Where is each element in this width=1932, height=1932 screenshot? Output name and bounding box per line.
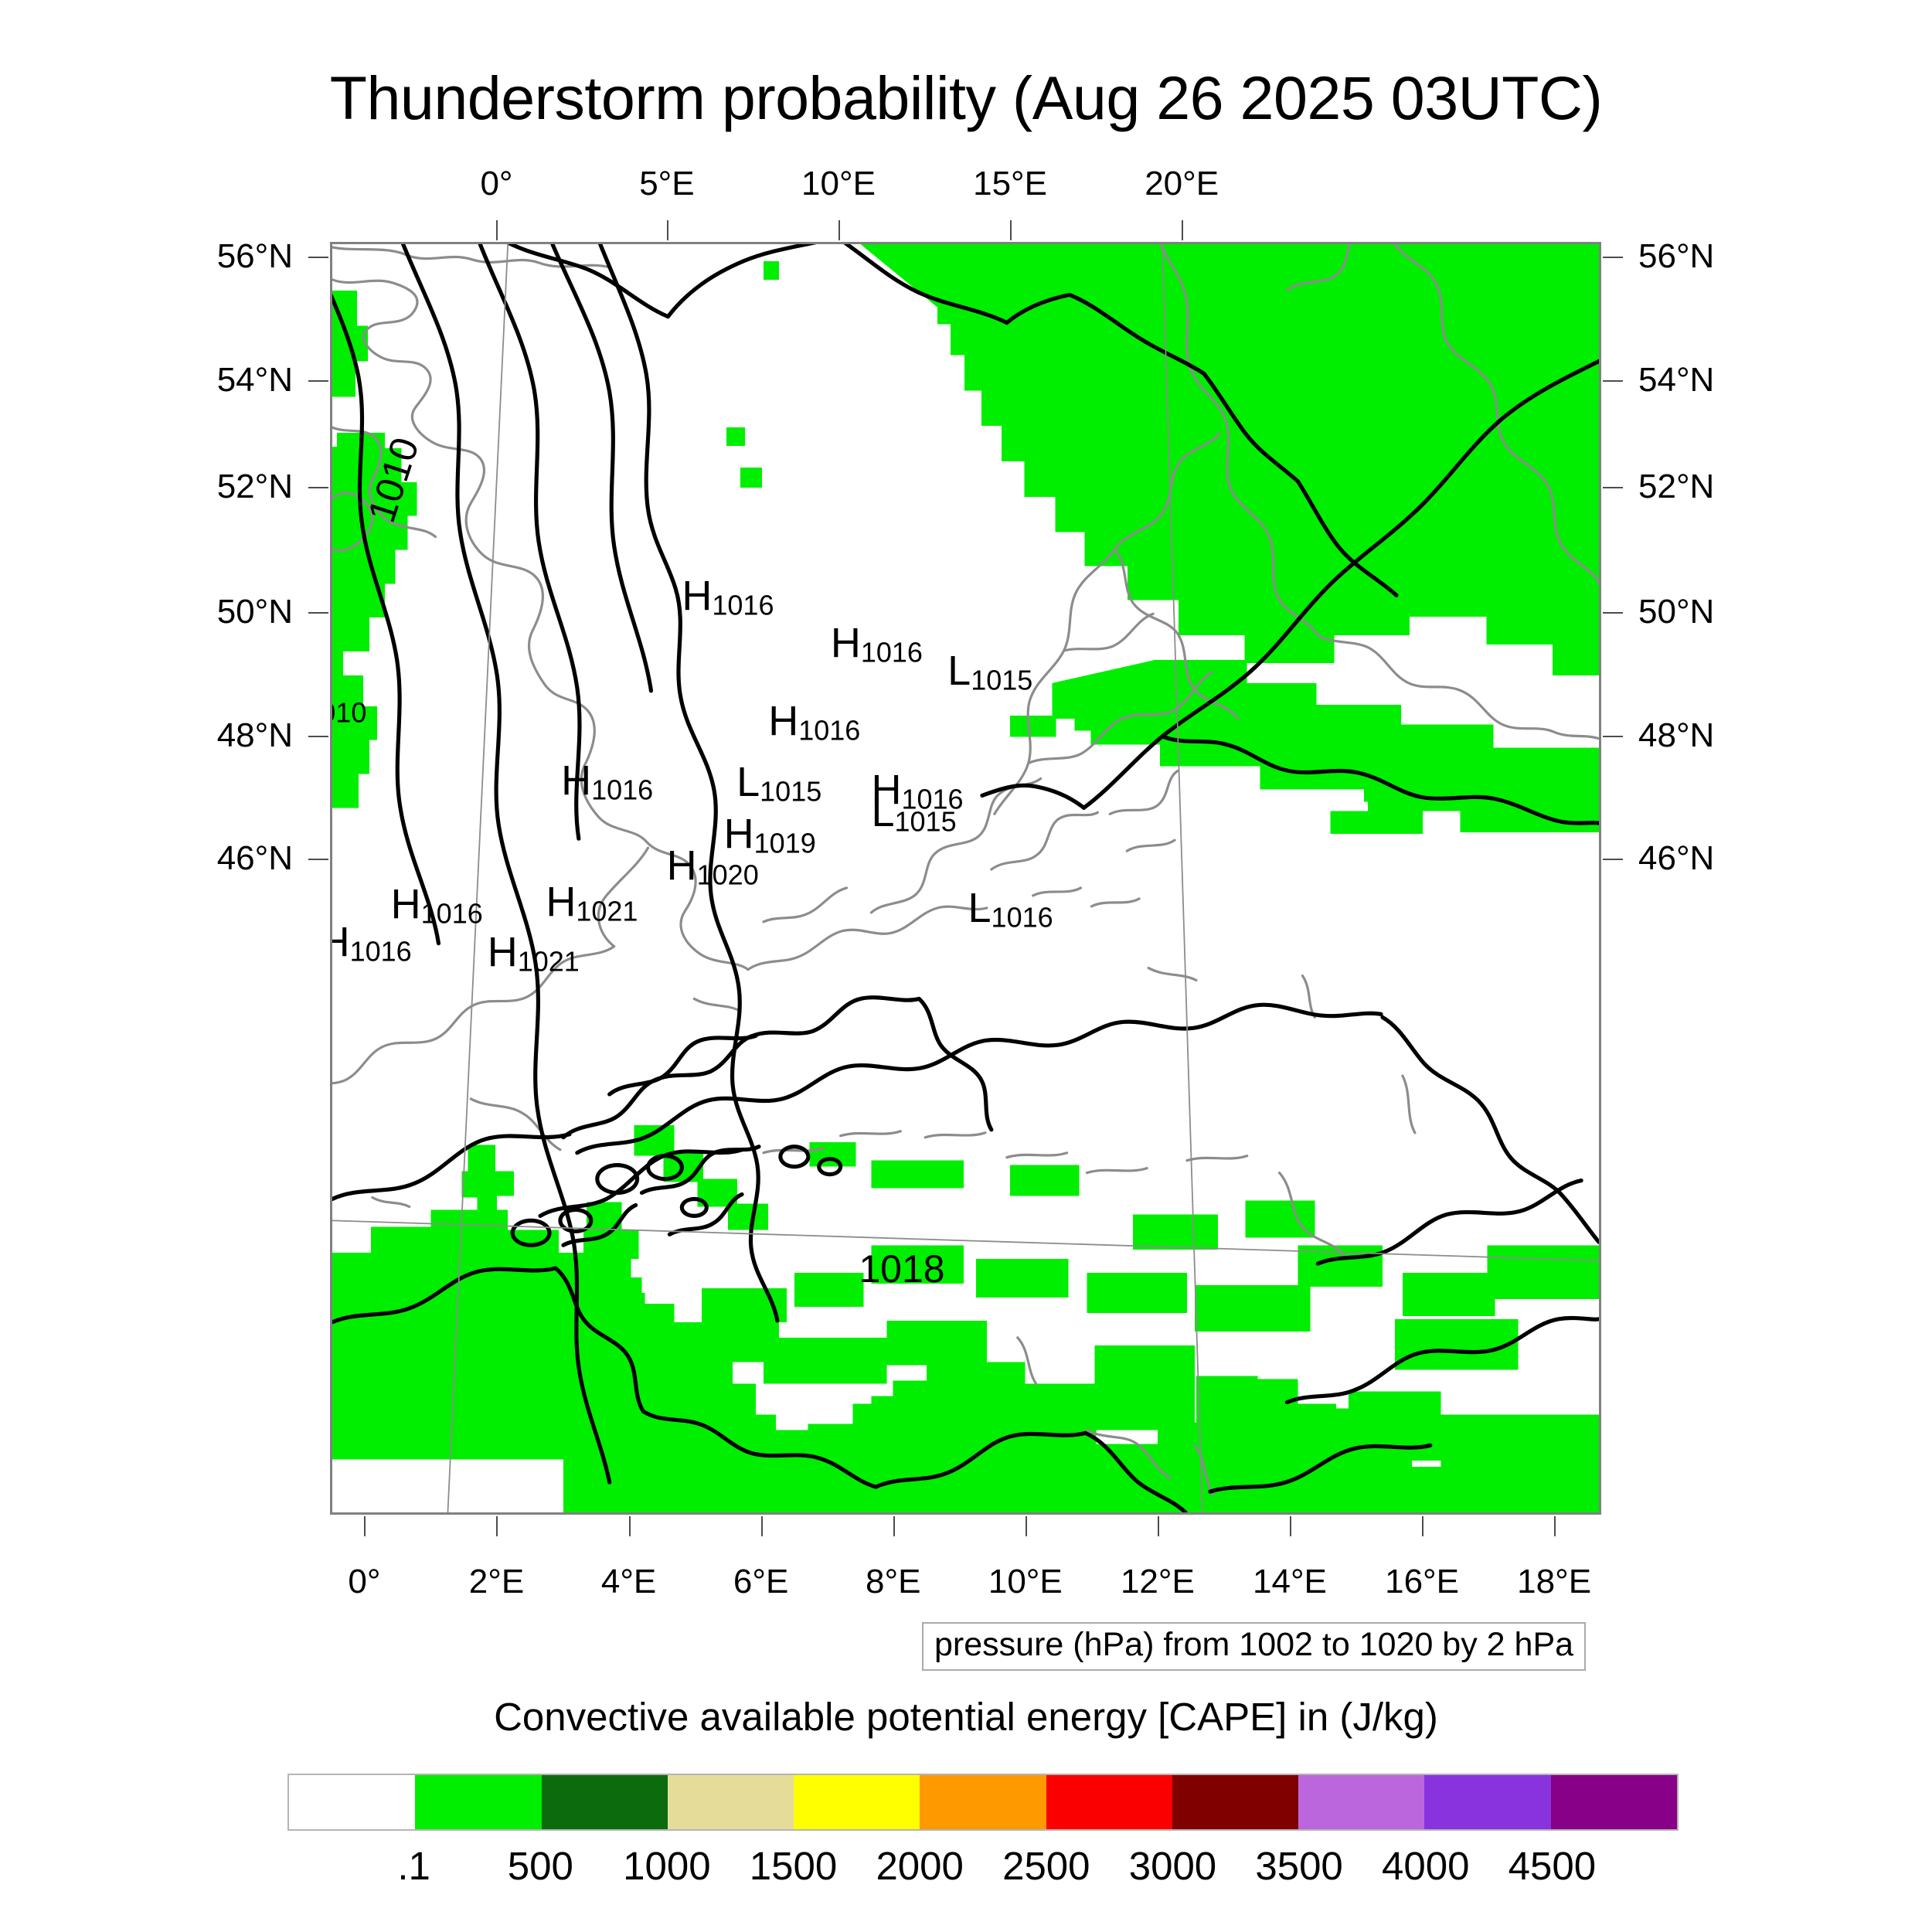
pressure-center-value: 1019 xyxy=(754,828,816,859)
pressure-note: pressure (hPa) from 1002 to 1020 by 2 hP… xyxy=(922,1622,1586,1671)
pressure-center-value: 1015 xyxy=(971,665,1032,696)
colorbar-segment[interactable] xyxy=(668,1775,794,1829)
left-axis-label: 50°N xyxy=(217,593,293,631)
pressure-center-symbol: H xyxy=(561,757,591,804)
axis-tick xyxy=(893,1516,895,1536)
colorbar-tick-labels: .150010001500200025003000350040004500 xyxy=(287,1843,1679,1897)
axis-tick xyxy=(761,1516,763,1536)
bottom-axis-label: 14°E xyxy=(1253,1563,1327,1601)
pressure-center-symbol: H xyxy=(391,881,421,927)
axis-tick xyxy=(1603,612,1623,614)
colorbar-segment[interactable] xyxy=(1424,1775,1550,1829)
bottom-axis-label: 0° xyxy=(348,1563,380,1601)
colorbar-tick-label: 1500 xyxy=(750,1843,837,1889)
axis-tick xyxy=(308,612,328,614)
pressure-center-value: 1016 xyxy=(712,590,774,621)
pressure-center-symbol: H xyxy=(831,620,861,666)
pressure-center-h: H1016 xyxy=(682,575,774,619)
right-axis-label: 46°N xyxy=(1638,839,1714,878)
pressure-center-l: L1010 xyxy=(330,682,366,726)
pressure-center-h: H1016 xyxy=(561,760,653,804)
left-axis-label: 48°N xyxy=(217,716,293,755)
cape-shading-layer xyxy=(332,244,1599,1512)
right-axis-label: 50°N xyxy=(1638,593,1714,631)
axis-tick xyxy=(364,1516,366,1536)
axis-tick xyxy=(308,257,328,258)
pressure-center-symbol: H xyxy=(768,698,798,744)
pressure-center-value: 1016 xyxy=(992,901,1053,933)
pressure-center-l: L1016 xyxy=(968,887,1053,931)
right-axis-label: 52°N xyxy=(1638,468,1714,506)
pressure-center-value: 1015 xyxy=(895,806,957,838)
colorbar-tick-label: 3000 xyxy=(1129,1843,1216,1889)
axis-tick xyxy=(1026,1516,1027,1536)
colorbar-tick-label: 1000 xyxy=(623,1843,710,1889)
pressure-center-value: 1016 xyxy=(798,714,860,746)
axis-tick xyxy=(308,487,328,488)
pressure-center-symbol: L xyxy=(968,885,992,931)
axis-tick xyxy=(308,380,328,382)
axis-tick xyxy=(1010,220,1012,240)
axis-tick xyxy=(1182,220,1183,240)
colorbar-caption: Convective available potential energy [C… xyxy=(0,1694,1932,1740)
colorbar-segment[interactable] xyxy=(1172,1775,1298,1829)
pressure-center-symbol: L xyxy=(871,789,894,835)
pressure-center-value: 1020 xyxy=(697,859,759,891)
pressure-center-h: H1021 xyxy=(488,931,580,975)
pressure-center-symbol: H xyxy=(682,573,712,619)
colorbar-tick-label: .1 xyxy=(397,1843,430,1889)
pressure-center-value: 1021 xyxy=(518,946,580,978)
bottom-axis-label: 16°E xyxy=(1385,1563,1459,1601)
bottom-axis-label: 18°E xyxy=(1517,1563,1591,1601)
colorbar-segment[interactable] xyxy=(1551,1775,1677,1829)
axis-tick xyxy=(667,220,668,240)
pressure-center-value: 1010 xyxy=(330,696,366,728)
left-axis-label: 46°N xyxy=(217,839,293,878)
pressure-center-value: 1016 xyxy=(861,637,923,668)
colorbar-segment[interactable] xyxy=(1298,1775,1424,1829)
weather-map[interactable]: H1016H1016L1015H1016L1010H1016L1015H1016… xyxy=(330,242,1601,1515)
pressure-center-h: H1016 xyxy=(831,622,923,666)
pressure-center-h: H1016 xyxy=(330,921,412,965)
pressure-center-h: H1016 xyxy=(768,700,860,744)
top-axis-label: 0° xyxy=(480,165,512,203)
pressure-center-symbol: L xyxy=(736,759,760,805)
colorbar[interactable] xyxy=(287,1774,1679,1831)
pressure-center-l: L1015 xyxy=(736,761,821,805)
bottom-axis-label: 6°E xyxy=(733,1563,788,1601)
colorbar-tick-label: 2500 xyxy=(1002,1843,1090,1889)
pressure-center-symbol: H xyxy=(546,879,576,925)
axis-tick xyxy=(1603,380,1623,382)
axis-tick xyxy=(308,736,328,737)
pressure-center-symbol: H xyxy=(488,929,518,975)
colorbar-segment[interactable] xyxy=(1046,1775,1172,1829)
left-axis-label: 54°N xyxy=(217,361,293,400)
bottom-axis-label: 10°E xyxy=(988,1563,1063,1601)
axis-tick xyxy=(1603,736,1623,737)
colorbar-tick-label: 4500 xyxy=(1509,1843,1596,1889)
map-canvas xyxy=(332,244,1599,1512)
left-axis-label: 52°N xyxy=(217,468,293,506)
axis-tick xyxy=(1603,859,1623,860)
colorbar-tick-label: 500 xyxy=(508,1843,573,1889)
pressure-center-value: 1016 xyxy=(591,774,653,806)
pressure-center-symbol: H xyxy=(667,842,697,889)
pressure-center-value: 1016 xyxy=(350,936,412,968)
pressure-center-l: L1015 xyxy=(871,791,956,835)
page-title: Thunderstorm probability (Aug 26 2025 03… xyxy=(0,63,1932,134)
bottom-axis-label: 8°E xyxy=(866,1563,920,1601)
axis-tick xyxy=(1290,1516,1291,1536)
axis-tick xyxy=(1554,1516,1556,1536)
bottom-axis-label: 12°E xyxy=(1121,1563,1195,1601)
colorbar-segment[interactable] xyxy=(542,1775,668,1829)
pressure-center-value: 1021 xyxy=(576,895,638,927)
colorbar-segment[interactable] xyxy=(794,1775,920,1829)
colorbar-segment[interactable] xyxy=(920,1775,1046,1829)
pressure-center-value: 1016 xyxy=(421,897,483,929)
axis-tick xyxy=(838,220,840,240)
colorbar-tick-label: 4000 xyxy=(1382,1843,1469,1889)
colorbar-tick-label: 3500 xyxy=(1255,1843,1342,1889)
bottom-axis-label: 2°E xyxy=(469,1563,524,1601)
left-axis-label: 56°N xyxy=(217,237,293,276)
isobar-label: 1018 xyxy=(859,1247,944,1291)
axis-tick xyxy=(496,220,498,240)
pressure-center-value: 1015 xyxy=(760,775,821,807)
pressure-center-h: H1021 xyxy=(546,881,638,925)
axis-tick xyxy=(1603,487,1623,488)
top-axis-label: 15°E xyxy=(973,165,1047,203)
axis-tick xyxy=(496,1516,498,1536)
pressure-center-symbol: H xyxy=(330,919,350,965)
right-axis-label: 54°N xyxy=(1638,361,1714,400)
colorbar-tick-label: 2000 xyxy=(876,1843,963,1889)
pressure-center-h: H1020 xyxy=(667,845,759,889)
right-axis-label: 56°N xyxy=(1638,237,1714,276)
axis-tick xyxy=(1422,1516,1423,1536)
axis-tick xyxy=(1158,1516,1159,1536)
pressure-center-symbol: L xyxy=(947,648,971,694)
top-axis-label: 10°E xyxy=(801,165,876,203)
axis-tick xyxy=(308,859,328,860)
top-axis-label: 20°E xyxy=(1145,165,1219,203)
axis-tick xyxy=(629,1516,631,1536)
colorbar-segment[interactable] xyxy=(289,1775,415,1829)
axis-tick xyxy=(1603,257,1623,258)
top-axis-label: 5°E xyxy=(639,165,694,203)
bottom-axis-label: 4°E xyxy=(601,1563,656,1601)
colorbar-segment[interactable] xyxy=(415,1775,541,1829)
pressure-center-l: L1015 xyxy=(947,650,1032,694)
right-axis-label: 48°N xyxy=(1638,716,1714,755)
